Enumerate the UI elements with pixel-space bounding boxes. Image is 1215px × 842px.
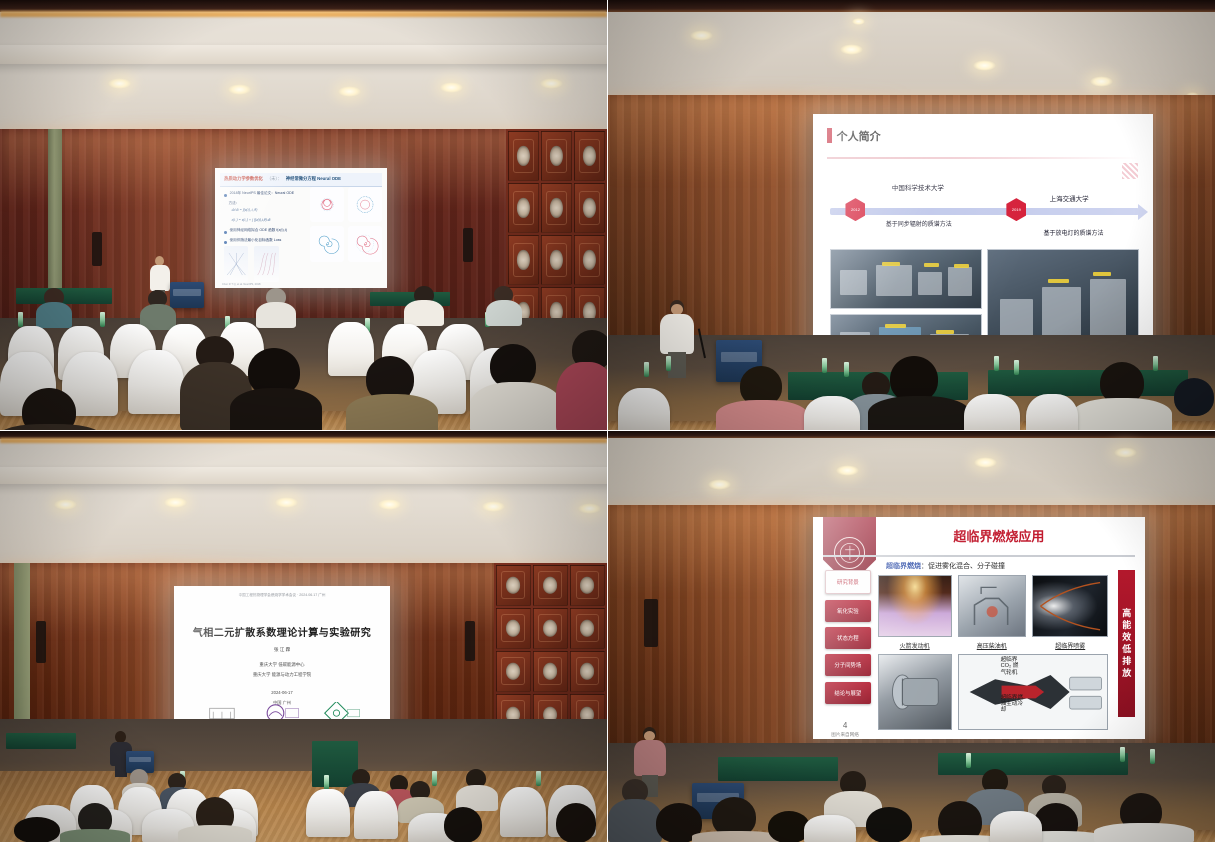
spotlight-icon [1114, 447, 1137, 458]
foreground-torso [692, 831, 780, 842]
projection-screen: 热质动力学参数优化 （未）： 神经常微分方程 Neural ODE 2018年 … [215, 168, 387, 288]
spotlight-icon [708, 479, 731, 490]
chair [328, 322, 374, 376]
water-bottle [966, 753, 971, 768]
spotlight-icon [228, 84, 251, 95]
spotlight-icon [54, 499, 77, 510]
turbine-icon [879, 655, 951, 729]
foreground-torso [1094, 823, 1194, 842]
title-underline [823, 555, 1135, 557]
spotlight-icon [482, 501, 505, 512]
bullet-text: 使用伴随法最小化目标函数 Loss [230, 238, 282, 243]
timeline-arrow-icon [830, 208, 1139, 215]
head-table [16, 288, 112, 304]
spiral-plot-grid [310, 187, 382, 261]
foreground-torso [716, 400, 808, 430]
photo-bottom-left: 中国工程热物理学会燃烧学学术会议 · 2024.06.17 广州 气相二元扩散系… [0, 431, 607, 842]
slide-source-note: 图片来自网络 [831, 732, 859, 738]
chair [354, 791, 398, 839]
wall-speaker [463, 228, 473, 262]
water-bottle [100, 312, 105, 327]
foreground-torso [60, 829, 130, 842]
slide-bullet: 使用神经网络拟合 ODE 函数 f(z(t),t) [224, 228, 305, 234]
slide-title: 超临界燃烧应用 [886, 526, 1112, 545]
annotation-fuel-cooling: 超临界燃油主动冷却 [1001, 695, 1024, 714]
head-table [6, 733, 76, 749]
bullet-dot-icon [224, 194, 227, 197]
spiral-curve-icon [310, 226, 344, 261]
slide-title-red: 热质动力学参数优化 [224, 176, 263, 182]
spotlight-icon [973, 60, 996, 71]
wall-speaker [465, 621, 475, 661]
annotation-co2-turbine: 超临界 CO₂ 燃气轮机 [1001, 657, 1024, 676]
spotlight-icon [1090, 76, 1113, 87]
bullet-dot-icon [224, 241, 227, 244]
foreground-torso [346, 394, 438, 430]
water-bottle [536, 771, 541, 786]
foreground-torso [1072, 398, 1172, 430]
engine-schematic-icon [959, 576, 1025, 636]
side-menu-item-molecular-potential: 分子间势场 [825, 654, 871, 676]
side-menu-item-equation-of-state: 状态方程 [825, 627, 871, 649]
foreground-head [14, 817, 60, 842]
corner-mark-icon [1122, 163, 1138, 179]
attendee-torso [486, 300, 522, 326]
ceiling-slab [0, 45, 607, 64]
image-diesel-engine [958, 575, 1026, 637]
foreground-torso [178, 825, 252, 842]
image-caption-rocket: 火箭发动机 [878, 641, 952, 650]
lab-photo-beamline: 燃烧光束线 [830, 249, 982, 309]
spotlight-icon [275, 497, 298, 508]
podium [170, 282, 204, 308]
presentation-date: 2024-06-17 [174, 690, 390, 695]
side-menu-item-conclusion: 结论与展望 [825, 682, 871, 704]
foreground-torso [868, 396, 970, 430]
spotlight-icon [108, 78, 131, 89]
water-bottle [844, 362, 849, 377]
chair [1026, 394, 1078, 430]
timeline-hexagon-icon: 2019 [1006, 198, 1026, 221]
slide-bullet: 2018年 NeurIPS 最佳论文：Neural ODE [224, 191, 305, 197]
foreground-torso [470, 382, 562, 430]
slide-subtitle: 超临界燃烧：促进雾化混合、分子碰撞 [886, 561, 1005, 571]
water-bottle [1120, 747, 1125, 762]
presentation-title: 气相二元扩散系数理论计算与实验研究 [183, 624, 382, 639]
ode-network-diagram [254, 246, 279, 282]
subtitle-rest: ：促进雾化混合、分子碰撞 [921, 563, 1005, 570]
seal-emblem-icon [838, 541, 862, 565]
foreground-head [556, 803, 596, 842]
spotlight-icon [836, 465, 859, 476]
water-bottle [666, 356, 671, 371]
aircraft-icon [959, 655, 1108, 729]
equation-2: z(t₁) = z(t₀) + ∫ f(z(t),t,θ) dt [232, 218, 305, 222]
image-supercritical-spray [1032, 575, 1109, 637]
timeline-topic: 基于放电灯的质谱方法 [1043, 228, 1103, 237]
chair [964, 394, 1020, 430]
attendee-table [718, 757, 838, 781]
bullet-dot-icon [224, 231, 227, 234]
timeline: 2012 中国科学技术大学 基于同步辐射的质谱方法 2019 上海交通大学 基于… [830, 187, 1139, 230]
attendee-torso [36, 302, 72, 328]
bullet-text: 2018年 NeurIPS 最佳论文：Neural ODE [230, 191, 295, 196]
spotlight-icon [440, 82, 463, 93]
chair [128, 350, 184, 414]
timeline-year: 2019 [1012, 207, 1021, 212]
foreground-head [866, 807, 912, 842]
slide-title: 中国工程热物理学会燃烧学学术会议 · 2024.06.17 广州 气相二元扩散系… [174, 586, 390, 732]
spray-plume-icon [1033, 576, 1108, 636]
projection-screen: 超临界燃烧应用 超临界燃烧：促进雾化混合、分子碰撞 研究背景 氧化实验 状态方程… [813, 517, 1145, 739]
subtitle-highlight: 超临界燃烧 [886, 563, 921, 570]
water-bottle [1014, 360, 1019, 375]
spiral-plot [348, 187, 382, 222]
slide-title-blue: 神经常微分方程 Neural ODE [286, 176, 341, 182]
image-caption-row: 火箭发动机 高压柴油机 超临界喷雾 [878, 641, 1109, 650]
water-bottle [324, 775, 329, 790]
image-caption-spray: 超临界喷雾 [1032, 641, 1109, 650]
foreground-torso [230, 388, 322, 430]
spotlight-icon [974, 457, 997, 468]
wall-speaker [36, 621, 46, 663]
side-menu-item-background: 研究背景 [825, 570, 871, 594]
bullet-text: 使用神经网络拟合 ODE 函数 f(z(t),t) [230, 228, 287, 233]
slide-footnote: Chen R T Q, et al. NeurIPS, 2018 [222, 283, 261, 286]
water-bottle [994, 356, 999, 371]
timeline-topic: 基于同步辐射的质谱方法 [886, 219, 952, 228]
attendee-torso [256, 302, 296, 328]
presenter-name: 张 江 霖 [174, 647, 390, 653]
chair [804, 815, 856, 842]
side-table [312, 741, 358, 787]
conference-photo-collage: 热质动力学参数优化 （未）： 神经常微分方程 Neural ODE 2018年 … [0, 0, 1215, 842]
network-lines-icon [254, 246, 279, 282]
slide-supercritical: 超临界燃烧应用 超临界燃烧：促进雾化混合、分子碰撞 研究背景 氧化实验 状态方程… [813, 517, 1145, 739]
chair [306, 789, 350, 837]
spotlight-icon [378, 499, 401, 510]
spiral-plot [348, 226, 382, 261]
spiral-curve-icon [348, 226, 382, 261]
spotlight-icon [690, 30, 713, 41]
slide-title-bar: 热质动力学参数优化 （未）： 神经常微分方程 Neural ODE [220, 173, 382, 187]
timeline-institution: 上海交通大学 [1050, 193, 1089, 203]
image-gas-turbine [878, 654, 952, 730]
slide-side-menu: 研究背景 氧化实验 状态方程 分子间势场 结论与展望 [825, 570, 871, 703]
water-bottle [644, 362, 649, 377]
wall-speaker [92, 232, 102, 266]
spotlight-icon [840, 44, 863, 55]
water-bottle [1153, 356, 1158, 371]
chair [804, 396, 860, 430]
lab-photo-caption: 质谱实验系统 [1021, 249, 1057, 250]
photo-top-left: 热质动力学参数优化 （未）： 神经常微分方程 Neural ODE 2018年 … [0, 0, 607, 430]
side-menu-item-oxidation: 氧化实验 [825, 600, 871, 622]
chair [618, 388, 670, 430]
slide-heading: 个人简介 [827, 128, 881, 144]
slide-side-band: 高能效低排放 [1118, 570, 1135, 717]
lab-photo-caption: 燃烧光束线 [870, 249, 900, 251]
method-label: 方法： [229, 201, 305, 206]
attendee-torso [608, 799, 662, 842]
spiral-curve-icon [310, 187, 344, 222]
spotlight-icon [578, 503, 601, 514]
slide-neural-ode: 热质动力学参数优化 （未）： 神经常微分方程 Neural ODE 2018年 … [215, 168, 387, 288]
attendee-torso [404, 300, 444, 326]
image-caption-diesel: 高压柴油机 [958, 641, 1026, 650]
timeline-hexagon-icon: 2012 [845, 198, 865, 221]
network-diagram [224, 246, 279, 282]
heading-text: 个人简介 [837, 128, 881, 144]
wall-speaker [644, 599, 658, 647]
slide-image-grid: 火箭发动机 高压柴油机 超临界喷雾 [878, 575, 1109, 730]
affiliation-1: 重庆大学 低碳能源中心 [174, 662, 390, 668]
photo-bottom-right: 超临界燃烧应用 超临界燃烧：促进雾化混合、分子碰撞 研究背景 氧化实验 状态方程… [608, 431, 1215, 842]
affiliation-2: 重庆大学 能源与动力工程学院 [174, 672, 390, 678]
spotlight-icon [338, 86, 361, 97]
network-lines-icon [224, 246, 249, 282]
spotlight-icon [164, 497, 187, 508]
timeline-institution: 中国科学技术大学 [892, 182, 944, 192]
water-bottle [1150, 749, 1155, 764]
foreground-torso [556, 362, 607, 430]
slide-title-gray: （未）： [267, 176, 282, 182]
photo-top-right: 个人简介 2012 中国科学技术大学 基于同步辐射的质谱方法 2019 [608, 0, 1215, 430]
spiral-plot [310, 187, 344, 222]
spotlight-icon [540, 78, 563, 89]
slide-page-number: 4 [843, 721, 847, 730]
foreground-head [1174, 378, 1214, 416]
spiral-curve-icon [348, 187, 382, 222]
chair [990, 811, 1042, 842]
heading-bar-icon [827, 128, 832, 143]
water-bottle [822, 358, 827, 373]
university-seal-icon [834, 537, 866, 569]
timeline-year: 2012 [851, 207, 860, 212]
lab-photo-caption: 质谱实验站 [870, 314, 900, 315]
water-bottle [18, 312, 23, 327]
water-bottle [432, 771, 437, 786]
projection-screen: 中国工程热物理学会燃烧学学术会议 · 2024.06.17 广州 气相二元扩散系… [174, 586, 390, 732]
image-aircraft [958, 654, 1109, 730]
slide-bullet: 使用伴随法最小化目标函数 Loss [224, 238, 305, 244]
image-rocket-engine [878, 575, 952, 637]
chair [500, 787, 546, 837]
ceiling-cove-light [0, 11, 607, 17]
spotlight-icon [852, 18, 865, 25]
residual-network-diagram [224, 246, 249, 282]
spiral-plot [310, 226, 344, 261]
equation-1: dz/dt = f(z(t), t, θ) [232, 208, 305, 212]
slide-header: 中国工程热物理学会燃烧学学术会议 · 2024.06.17 广州 [187, 593, 377, 598]
foreground-head [444, 807, 482, 842]
heading-rule [827, 157, 1140, 159]
